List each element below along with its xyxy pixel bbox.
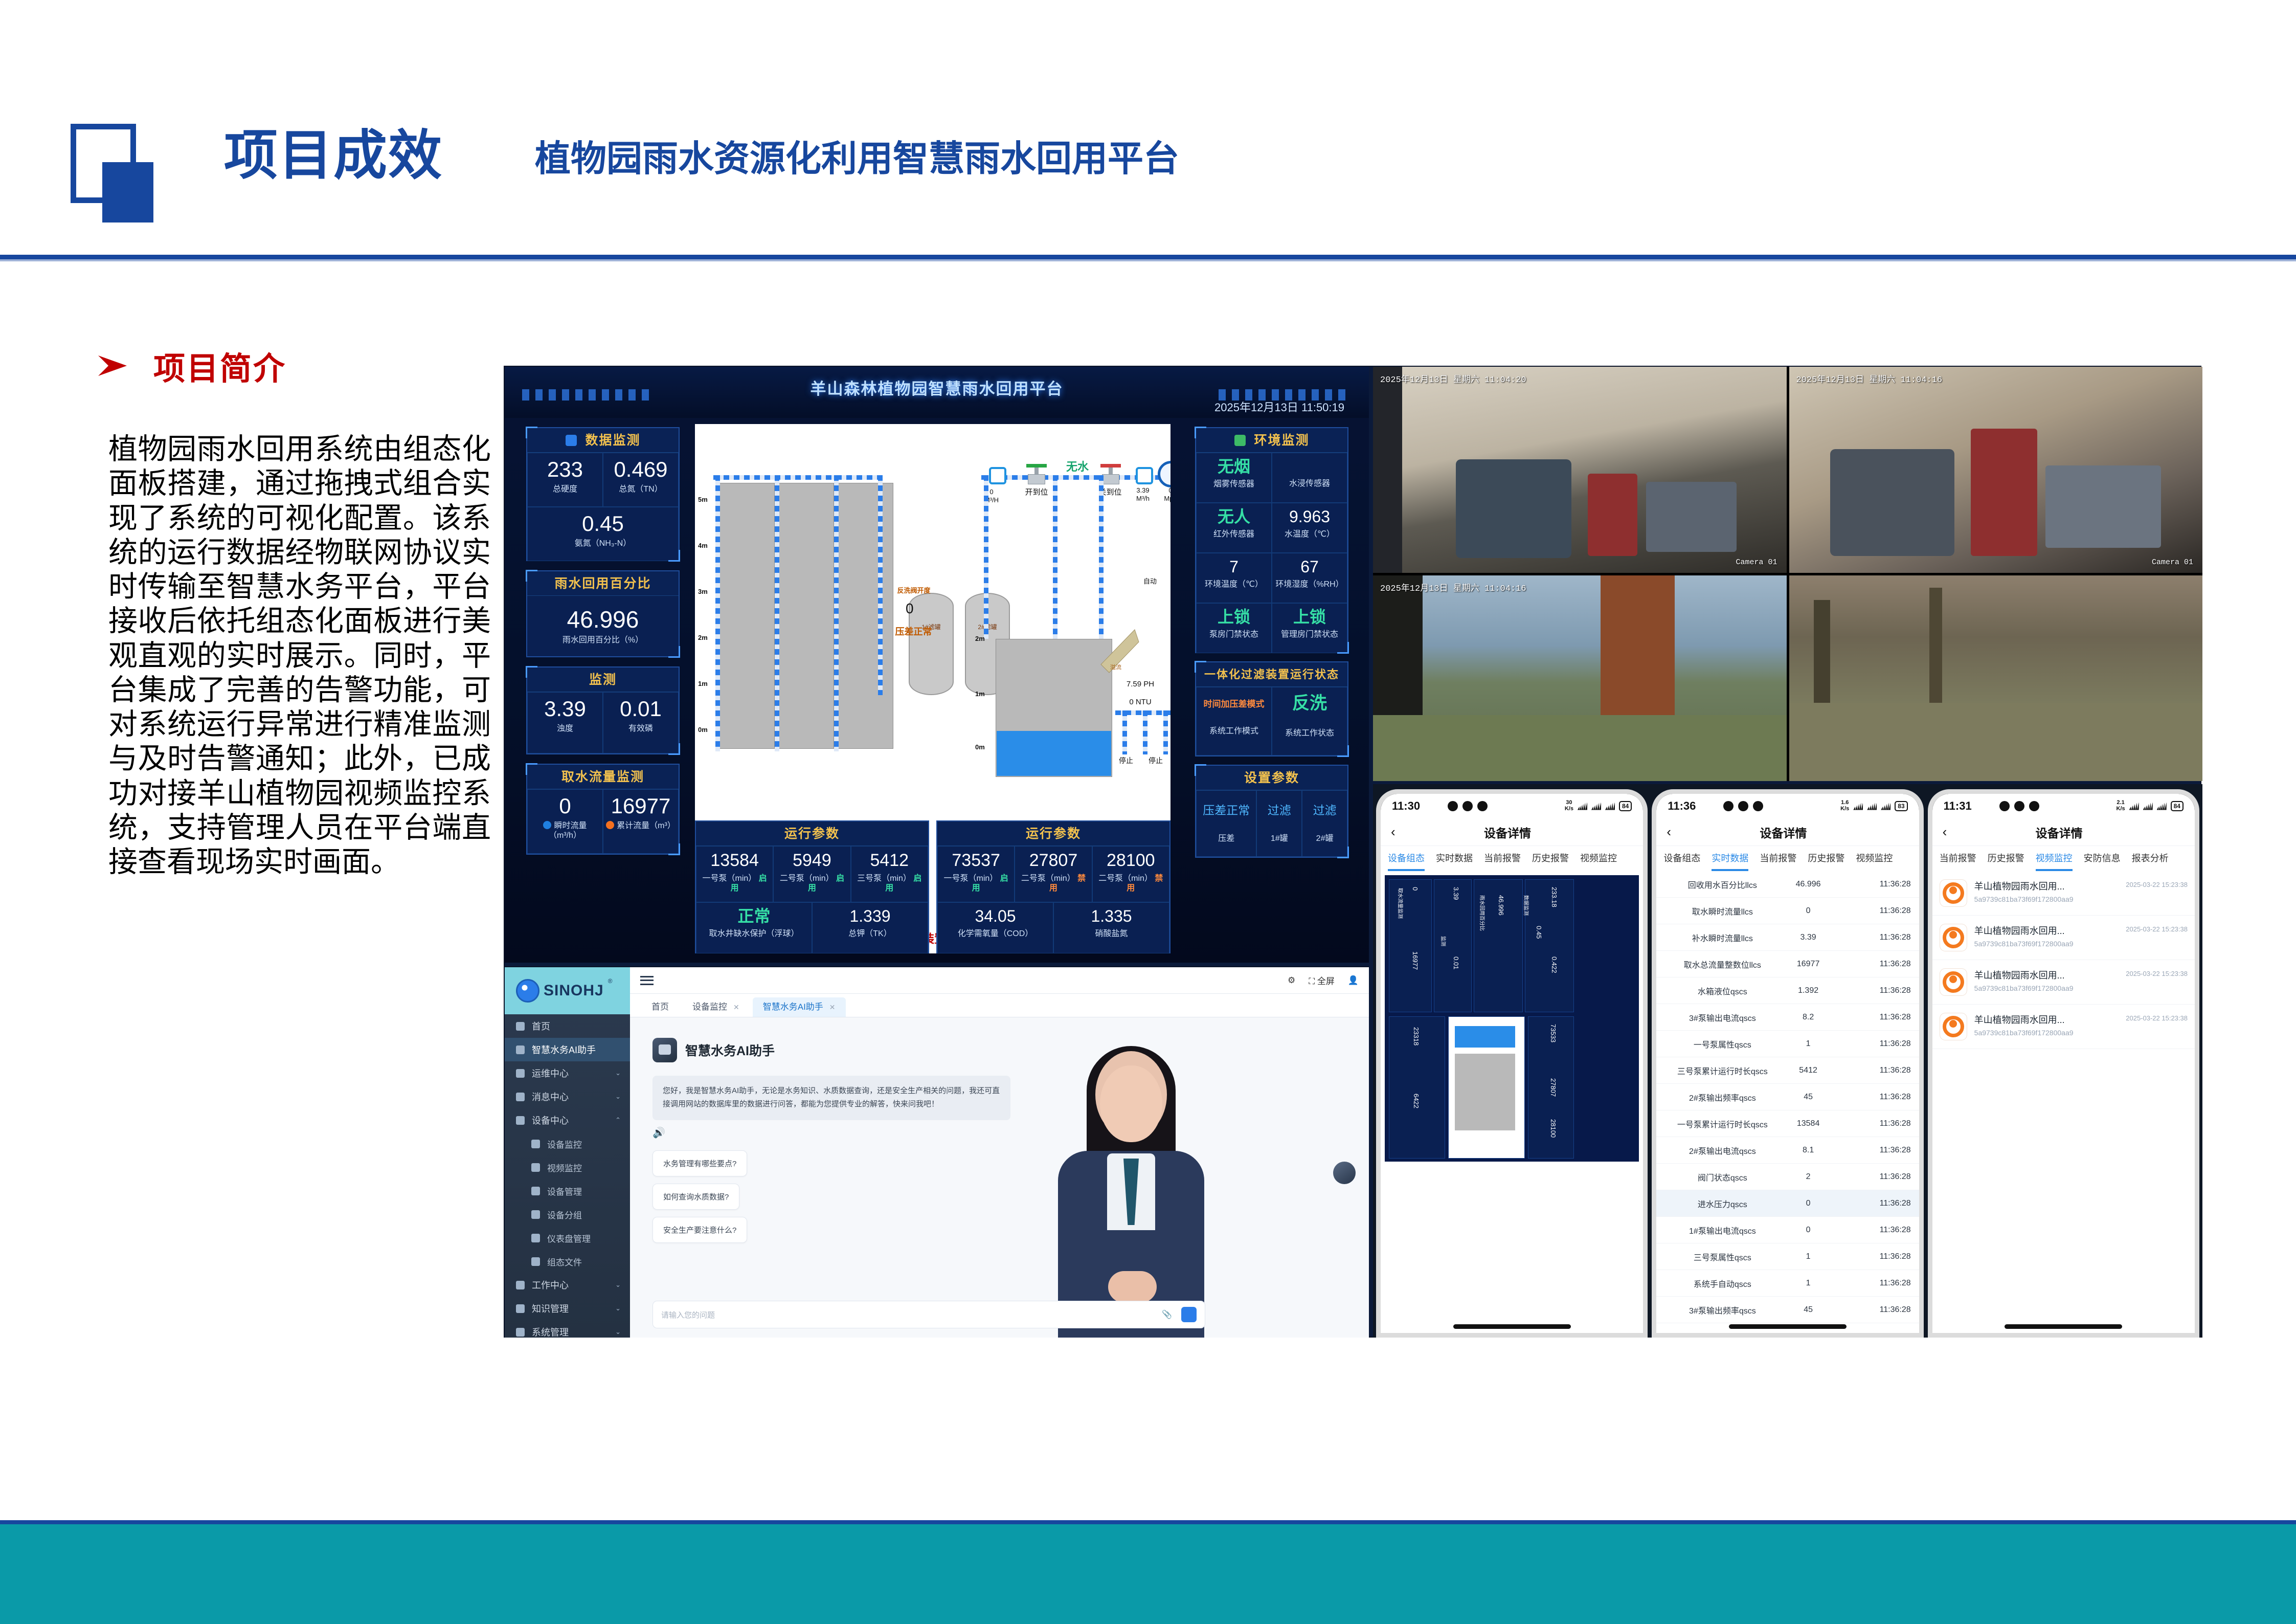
metric-cell: 上锁 泵房门禁状态	[1196, 603, 1272, 653]
overflow-icon	[1099, 629, 1140, 685]
topbar-actions: ⚙ ⛶ 全屏 👤	[1288, 974, 1359, 987]
sidebar-item-device-monitor[interactable]: 设备监控	[505, 1132, 630, 1155]
pipe-down-a	[984, 475, 988, 639]
list-item[interactable]: 进水压力qscs011:36:28	[1656, 1190, 1919, 1217]
panel-title: 运行参数	[696, 821, 928, 846]
tab-history-alarm[interactable]: 历史报警	[1808, 851, 1844, 871]
status-time: 11:31	[1944, 799, 1972, 813]
signal-icon	[2143, 803, 2153, 810]
tank-scale-1m: 1m	[975, 690, 985, 698]
filter-tank-1	[909, 593, 954, 695]
scale-label: 5m	[698, 496, 708, 503]
phone-page-title: 设备详情	[1947, 824, 2171, 841]
alarm-body: 羊山植物园雨水回用... 5a9739c81ba73f69f172800aa9	[1974, 924, 2119, 948]
suggestion-chip[interactable]: 如何查询水质数据?	[652, 1184, 739, 1210]
pulse-icon	[606, 821, 614, 829]
scale-label: 3m	[698, 588, 708, 595]
mini-panel: 0 取水流量监测 16977	[1389, 879, 1432, 1012]
panel-monitor: 监测 3.39 浊度 0.01 有效磷	[526, 666, 680, 754]
phone-device-2: 11:36 1.6 K/s 83	[1652, 789, 1923, 1338]
pump-well-2	[778, 483, 834, 749]
intro-paragraph: 植物园雨水回用系统由组态化面板搭建，通过拖拽式组合实现了系统的可视化配置。该系统…	[97, 432, 491, 879]
network-speed: 2.1 K/s	[2117, 800, 2125, 812]
flow-left-value: 0 M³/H	[977, 488, 1006, 505]
metric-cell: 46.996 雨水回用百分比（%）	[527, 596, 679, 656]
mini-process-preview	[1448, 1016, 1525, 1159]
sidebar-item-dashboard-manage[interactable]: 仪表盘管理	[505, 1226, 630, 1250]
footer-bar	[0, 1524, 2296, 1624]
header-rule-light	[0, 259, 2296, 261]
scale-label: 2m	[698, 634, 708, 641]
flow-total-label: 累计流量（m³）	[605, 821, 676, 831]
cell-grid: 0 瞬时流量（m³/h） 16977 累计流量（m³）	[527, 789, 679, 854]
suggestion-chip[interactable]: 安全生产要注意什么?	[652, 1217, 747, 1243]
alarm-title: 羊山植物园雨水回用...	[1974, 968, 2119, 982]
tab-realtime-data[interactable]: 实时数据	[1712, 851, 1748, 871]
list-item[interactable]: 水箱液位qscs1.39211:36:28	[1656, 977, 1919, 1004]
chevron-down-icon: ⌄	[615, 1328, 621, 1336]
signal-icon-2	[2157, 803, 2167, 810]
bot-header: 智慧水务AI助手	[652, 1038, 1369, 1062]
tab-history-alarm[interactable]: 历史报警	[1988, 851, 2024, 871]
floating-bot-button[interactable]	[1333, 1162, 1356, 1184]
alarm-id: 5a9739c81ba73f69f172800aa9	[1974, 940, 2119, 948]
panel-title: 环境监测	[1196, 428, 1347, 453]
metric-cell: 1.339 总钾（TK）	[812, 902, 928, 953]
cell-grid: 无烟 烟雾传感器 水浸传感器 无人 红外传感器 9.963	[1196, 453, 1347, 653]
sidebar-item-label: 设备监控	[547, 1138, 582, 1150]
battery-indicator: 83	[1895, 801, 1907, 811]
registered-mark: ®	[608, 977, 613, 985]
cell-grid: 233 总硬度 0.469 总氮（TN） 0.45 氨氮（NH₃-N）	[527, 453, 679, 561]
list-item[interactable]: 三号泵属性qscs111:36:28	[1656, 1243, 1919, 1270]
phone-row: 11:30 30 K/s 84	[1373, 784, 2202, 1338]
auto-label: 自动	[1135, 577, 1165, 586]
sidebar-item-config-files[interactable]: 组态文件	[505, 1250, 630, 1273]
arrow-right-icon	[97, 352, 129, 379]
pump-well-3	[837, 483, 893, 749]
tab-current-alarm[interactable]: 当前报警	[1484, 851, 1521, 871]
signal-icon	[1591, 803, 1601, 810]
camera-timestamp: 2025年12月13日 星期六 11:04:16	[1796, 372, 1943, 385]
list-item[interactable]: 回收用水百分比llcs46.99611:36:28	[1656, 871, 1919, 898]
phone-page-title: 设备详情	[1671, 824, 1896, 841]
ai-assistant-window: SINOHJ ® 首页 智慧水务AI助手 运维中心 ⌄	[505, 966, 1369, 1338]
phone-tabs: 当前报警 历史报警 视频监控 安防信息 报表分析	[1932, 846, 2195, 871]
panel-title: 运行参数	[937, 821, 1169, 846]
list-item[interactable]: 羊山植物园雨水回用... 5a9739c81ba73f69f172800aa9 …	[1932, 1005, 2195, 1049]
metric-cell: 压差正常 压差	[1196, 790, 1256, 857]
battery-indicator: 84	[1619, 801, 1632, 811]
speaker-icon[interactable]: 🔊	[652, 1126, 1369, 1139]
gear-icon	[516, 1328, 525, 1337]
panel-title: 设置参数	[1196, 766, 1347, 790]
camera-grid: 2025年12月13日 星期六 11:04:20 Camera 01 2025年…	[1373, 367, 2202, 781]
list-item[interactable]: 阀门状态qscs211:36:28	[1656, 1164, 1919, 1190]
tab-ai-assistant[interactable]: 智慧水务AI助手✕	[753, 997, 846, 1017]
file-icon	[531, 1257, 540, 1266]
metric-cell: 无人 红外传感器	[1196, 503, 1272, 553]
panel-data-monitor: 数据监测 233 总硬度 0.469 总氮（TN） 0.45	[526, 427, 680, 561]
sidebar-item-video-monitor[interactable]: 视频监控	[505, 1155, 630, 1179]
scada-right-stack: 环境监测 无烟 烟雾传感器 水浸传感器 无人 红外传感器	[1195, 427, 1348, 858]
tab-realtime-data[interactable]: 实时数据	[1436, 851, 1473, 871]
tab-video-monitor[interactable]: 视频监控	[1580, 851, 1617, 871]
back-icon[interactable]: ‹	[1943, 824, 1947, 840]
dashboard-icon	[531, 1234, 540, 1242]
camera-brand-icon	[1940, 924, 1967, 951]
sidebar-item-label: 设备中心	[532, 1114, 569, 1127]
sidebar-item-device-group[interactable]: 设备分组	[505, 1203, 630, 1226]
wifi-icon	[1578, 803, 1587, 810]
status-time: 11:30	[1392, 799, 1420, 813]
alarm-id: 5a9739c81ba73f69f172800aa9	[1974, 895, 2119, 903]
camera-cutout-icon	[1723, 801, 1763, 811]
message-icon	[516, 1093, 525, 1101]
tab-video-monitor[interactable]: 视频监控	[1856, 851, 1893, 871]
realtime-data-list: 回收用水百分比llcs46.99611:36:28 取水瞬时流量llcs011:…	[1656, 871, 1919, 1333]
panel-set-params: 设置参数 压差正常 压差 过滤 1#罐 过滤 2#罐	[1195, 765, 1348, 858]
send-button[interactable]	[1181, 1307, 1197, 1322]
alarm-list: 羊山植物园雨水回用... 5a9739c81ba73f69f172800aa9 …	[1932, 871, 2195, 1049]
robot-avatar-icon	[652, 1038, 677, 1062]
signal-icon	[1867, 803, 1877, 810]
no-water-status: 无水	[1059, 460, 1096, 474]
phone-tabs: 设备组态 实时数据 当前报警 历史报警 视频监控	[1656, 846, 1919, 871]
network-speed: 1.6 K/s	[1840, 800, 1849, 812]
phone-nav-bar: ‹ 设备详情	[1381, 818, 1643, 846]
ph-value: 7.59 PH	[1117, 680, 1163, 689]
gauge-icon	[543, 821, 551, 829]
app-main: ⚙ ⛶ 全屏 👤 首页 设备监控✕ 智慧水务AI助手✕ 智慧水务AI助手 您好，	[630, 967, 1369, 1338]
sidebar-item-ops-center[interactable]: 运维中心 ⌄	[505, 1061, 630, 1085]
sidebar-item-system[interactable]: 系统管理 ⌄	[505, 1320, 630, 1344]
metric-cell: 34.05 化学需氧量（COD）	[937, 902, 1053, 953]
close-icon[interactable]: ✕	[733, 1003, 739, 1011]
list-item[interactable]: 一号泵属性qscs111:36:28	[1656, 1031, 1919, 1057]
ntu-value: 0 NTU	[1117, 698, 1163, 707]
scale-label: 0m	[698, 726, 708, 733]
cell-grid: 时间加压差模式 系统工作模式 反洗 系统工作状态	[1196, 687, 1347, 755]
environment-icon	[1234, 435, 1246, 446]
tab-security-info[interactable]: 安防信息	[2084, 851, 2121, 871]
digital-human-avatar	[1047, 1051, 1215, 1338]
footer-rule	[0, 1520, 2296, 1524]
phone-tabs: 设备组态 实时数据 当前报警 历史报警 视频监控	[1381, 846, 1643, 871]
metric-cell: 73537 一号泵（min） 启用	[937, 846, 1015, 902]
camera-brand-icon	[1940, 1013, 1967, 1040]
list-item[interactable]: 3#泵输出频率qscs4511:36:28	[1656, 1297, 1919, 1323]
valve-closed-label: 关到位	[1092, 488, 1129, 498]
metric-cell: 时间加压差模式 系统工作模式	[1196, 687, 1272, 755]
tab-video-monitor[interactable]: 视频监控	[2036, 851, 2073, 871]
logo-mark	[71, 124, 188, 216]
metric-cell: 反洗 系统工作状态	[1272, 687, 1347, 755]
close-icon[interactable]: ✕	[829, 1003, 836, 1011]
list-item[interactable]: 取水瞬时流量llcs011:36:28	[1656, 898, 1919, 924]
sidebar-item-label: 知识管理	[532, 1302, 569, 1315]
alarm-title: 羊山植物园雨水回用...	[1974, 924, 2119, 937]
metric-cell: 13584 一号泵（min） 启用	[696, 846, 773, 902]
metric-cell: 0.45 氨氮（NH₃-N）	[527, 507, 679, 561]
metric-cell: 27807 二号泵（min） 禁用	[1015, 846, 1092, 902]
mini-panel: 46.996 雨水回用百分比	[1474, 879, 1523, 1012]
chat-input[interactable]: 请输入您的问题	[661, 1309, 715, 1320]
panel-title: 数据监测	[527, 428, 679, 453]
metric-cell: 过滤 2#罐	[1302, 790, 1347, 857]
panel-reuse-percentage: 雨水回用百分比 46.996 雨水回用百分比（%）	[526, 570, 680, 657]
metric-cell: 5949 二号泵（min） 启用	[773, 846, 850, 902]
status-indicators: 1.6 K/s 83	[1840, 800, 1907, 812]
pump-state-1: 停止	[1113, 757, 1139, 766]
scale-label: 4m	[698, 542, 708, 549]
sidebar-item-label: 运维中心	[532, 1066, 569, 1080]
scada-clock: 2025年12月13日 11:50:19	[1214, 398, 1344, 415]
tab-history-alarm[interactable]: 历史报警	[1532, 851, 1569, 871]
tank-water-level	[997, 731, 1111, 776]
sidebar-item-label: 仪表盘管理	[547, 1232, 591, 1244]
panel-runtime-right: 运行参数 73537 一号泵（min） 启用 27807 二号泵（min） 禁用	[936, 820, 1170, 953]
slide-root: 项目成效 植物园雨水资源化利用智慧雨水回用平台 项目简介 植物园雨水回用系统由组…	[0, 0, 2296, 1624]
page-subtitle: 植物园雨水资源化利用智慧雨水回用平台	[535, 141, 1179, 176]
phone-status-bar: 11:31 2.1 K/s 84	[1932, 794, 2195, 818]
phone-screen: 11:31 2.1 K/s 84	[1932, 794, 2195, 1333]
book-icon	[516, 1304, 525, 1313]
chat-input-bar[interactable]: 请输入您的问题 📎	[652, 1301, 1205, 1328]
sidebar-item-label: 组态文件	[547, 1255, 582, 1268]
metric-cell: 5412 三号泵（min） 启用	[851, 846, 928, 902]
signal-icon-2	[1881, 803, 1890, 810]
list-item[interactable]: 取水总流量整数位llcs1697711:36:28	[1656, 951, 1919, 977]
cell-grid: 73537 一号泵（min） 启用 27807 二号泵（min） 禁用 2810…	[937, 846, 1169, 953]
camera-feed-3[interactable]: 2025年12月13日 星期六 11:04:16	[1373, 575, 1787, 782]
sidebar-item-label: 设备分组	[547, 1208, 582, 1221]
work-icon	[516, 1281, 525, 1289]
monitor-icon	[531, 1140, 540, 1148]
sidebar-item-label: 系统管理	[532, 1325, 569, 1339]
chevron-down-icon: ⌄	[615, 1069, 621, 1077]
pump-riser-1	[1122, 710, 1127, 754]
pressure-gauge-icon	[1158, 461, 1170, 487]
camera-name: Camera 01	[1736, 558, 1777, 567]
section-heading-label: 项目简介	[153, 343, 286, 389]
list-item[interactable]: 2#泵输出电流qscs8.111:36:28	[1656, 1137, 1919, 1164]
pipe-down-b	[1053, 475, 1057, 639]
list-item[interactable]: 羊山植物园雨水回用... 5a9739c81ba73f69f172800aa9 …	[1932, 916, 2195, 960]
list-item[interactable]: 羊山植物园雨水回用... 5a9739c81ba73f69f172800aa9 …	[1932, 960, 2195, 1005]
list-item[interactable]: 补水瞬时流量llcs3.3911:36:28	[1656, 924, 1919, 951]
metric-cell: 水浸传感器	[1272, 453, 1347, 503]
pipe-v-1	[715, 475, 720, 751]
tank-scale-0m: 0m	[975, 743, 985, 751]
alarm-time: 2025-03-22 15:23:38	[2126, 924, 2188, 933]
panel-env-monitor: 环境监测 无烟 烟雾传感器 水浸传感器 无人 红外传感器	[1195, 427, 1348, 653]
input-actions: 📎	[1162, 1307, 1197, 1322]
device-icon	[516, 1116, 525, 1125]
screenshot-composite: 羊山森林植物园智慧雨水回用平台 2025年12月13日 11:50:19 数据监…	[504, 366, 2201, 1338]
tab-device-config[interactable]: 设备组态	[1388, 851, 1425, 871]
attach-icon[interactable]: 📎	[1162, 1309, 1172, 1320]
pipe-down-c	[1099, 475, 1104, 639]
flow-meter-right-icon	[1136, 467, 1153, 484]
panel-intake-flow: 取水流量监测 0 瞬时流量（m³/h） 16977 累计流量（m³）	[526, 764, 680, 855]
video-icon	[531, 1163, 540, 1172]
list-item[interactable]: 3#泵输出电流qscs8.211:36:28	[1656, 1004, 1919, 1031]
list-item[interactable]: 羊山植物园雨水回用... 5a9739c81ba73f69f172800aa9 …	[1932, 871, 2195, 916]
pipe-top-left	[713, 475, 882, 480]
sidebar-item-device-manage[interactable]: 设备管理	[505, 1179, 630, 1203]
sidebar-item-home[interactable]: 首页	[505, 1014, 630, 1038]
monitor-icon	[566, 435, 577, 446]
list-item[interactable]: 三号泵累计运行时长qscs541211:36:28	[1656, 1057, 1919, 1084]
alarm-id: 5a9739c81ba73f69f172800aa9	[1974, 1029, 2119, 1037]
left-column: 项目简介 植物园雨水回用系统由组态化面板搭建，通过拖拽式组合实现了系统的可视化配…	[97, 343, 491, 879]
backwash-valve-label: 反洗阀开度	[883, 587, 944, 595]
back-icon[interactable]: ‹	[1391, 824, 1395, 840]
battery-indicator: 84	[2171, 801, 2184, 811]
tab-current-alarm[interactable]: 当前报警	[1940, 851, 1976, 871]
phone-nav-bar: ‹ 设备详情	[1656, 818, 1919, 846]
sidebar-item-message-center[interactable]: 消息中心 ⌄	[505, 1085, 630, 1108]
list-item[interactable]: 2#泵输出频率qscs4511:36:28	[1656, 1084, 1919, 1110]
camera-feed-4[interactable]	[1789, 575, 2203, 782]
ops-icon	[516, 1069, 525, 1078]
sidebar-item-knowledge[interactable]: 知识管理 ⌄	[505, 1297, 630, 1320]
scada-left-stack: 数据监测 233 总硬度 0.469 总氮（TN） 0.45	[526, 427, 680, 855]
gear-icon[interactable]: ⚙	[1288, 975, 1295, 986]
pump-state-2: 停止	[1143, 757, 1168, 766]
logo-icon	[516, 979, 539, 1003]
page-title: 项目成效	[224, 129, 443, 183]
alarm-title: 羊山植物园雨水回用...	[1974, 879, 2119, 893]
chat-area: 智慧水务AI助手 您好，我是智慧水务AI助手，无论是水务知识、水质数据查询，还是…	[630, 1017, 1369, 1338]
phone-screen: 11:36 1.6 K/s 83	[1656, 794, 1919, 1333]
sidebar-item-label: 智慧水务AI助手	[532, 1043, 596, 1056]
overflow-label: 溢流	[1110, 664, 1121, 672]
status-indicators: 2.1 K/s 84	[2117, 800, 2184, 812]
pipe-v-2	[775, 475, 779, 751]
valve-open-icon	[1025, 464, 1048, 484]
alarm-time: 2025-03-22 15:23:38	[2126, 1013, 2188, 1022]
pipe-v-3	[834, 475, 839, 751]
fullscreen-button[interactable]: ⛶ 全屏	[1309, 974, 1335, 987]
camera-feed-1[interactable]: 2025年12月13日 星期六 11:04:20 Camera 01	[1373, 367, 1787, 573]
panel-title: 监测	[527, 668, 679, 692]
tab-device-config[interactable]: 设备组态	[1663, 851, 1700, 871]
tab-report-analysis[interactable]: 报表分析	[2132, 851, 2169, 871]
signal-icon-2	[1605, 803, 1615, 810]
panel-title: 一体化过滤装置运行状态	[1196, 662, 1347, 687]
back-icon[interactable]: ‹	[1667, 824, 1671, 840]
pump-well-1	[718, 483, 775, 749]
sidebar-item-label: 消息中心	[532, 1090, 569, 1103]
metric-cell: 28100 二号泵（min） 禁用	[1092, 846, 1169, 902]
pipe-v-out	[878, 475, 883, 695]
metric-cell: 233 总硬度	[527, 453, 603, 507]
network-speed: 30 K/s	[1565, 800, 1573, 812]
pressure-value: 0 Mpa	[1155, 486, 1170, 503]
status-time: 11:36	[1668, 799, 1696, 813]
metric-cell: 3.39 浊度	[527, 692, 603, 753]
sidebar-item-ai-assistant[interactable]: 智慧水务AI助手	[505, 1038, 630, 1061]
phone-nav-bar: ‹ 设备详情	[1932, 818, 2195, 846]
camera-feed-2[interactable]: 2025年12月13日 星期六 11:04:16 Camera 01	[1789, 367, 2203, 573]
scale-label: 1m	[698, 680, 708, 687]
greeting-message: 您好，我是智慧水务AI助手，无论是水务知识、水质数据查询，还是安全生产相关的问题…	[652, 1076, 1010, 1120]
sidebar-item-device-center[interactable]: 设备中心 ⌃	[505, 1108, 630, 1132]
camera-cutout-icon	[1999, 801, 2039, 811]
camera-brand-icon	[1940, 879, 1967, 907]
cell-grid: 压差正常 压差 过滤 1#罐 过滤 2#罐	[1196, 790, 1347, 857]
brand-logo: SINOHJ ®	[505, 967, 630, 1014]
section-heading: 项目简介	[97, 343, 491, 389]
runtime-params-row: 运行参数 13584 一号泵（min） 启用 5949 二号泵（min） 启用	[695, 820, 1170, 953]
flow-right-value: 3.39 M³/h	[1129, 486, 1157, 503]
metric-cell: 0.469 总氮（TN）	[603, 453, 679, 507]
metric-cell: 无烟 烟雾传感器	[1196, 453, 1272, 503]
avatar-face	[1100, 1065, 1162, 1142]
group-icon	[531, 1210, 540, 1219]
phone-device-1: 11:30 30 K/s 84	[1376, 789, 1648, 1338]
list-item[interactable]: 系统手自动qscs111:36:28	[1656, 1270, 1919, 1297]
menu-toggle-icon[interactable]	[640, 976, 654, 985]
metric-cell: 上锁 管理房门禁状态	[1272, 603, 1347, 653]
metric-cell: 7 环境温度（℃）	[1196, 553, 1272, 603]
phone-status-bar: 11:30 30 K/s 84	[1381, 794, 1643, 818]
metric-cell: 过滤 1#罐	[1256, 790, 1302, 857]
cell-grid: 3.39 浊度 0.01 有效磷	[527, 692, 679, 753]
wifi-icon	[1853, 803, 1863, 810]
sidebar-item-label: 首页	[532, 1019, 550, 1033]
wifi-icon	[2129, 803, 2139, 810]
sidebar-item-label: 设备管理	[547, 1185, 582, 1197]
alarm-time: 2025-03-22 15:23:38	[2126, 968, 2188, 977]
mini-panel: 23318 6422	[1389, 1016, 1445, 1159]
camera-cutout-icon	[1448, 801, 1488, 811]
tab-current-alarm[interactable]: 当前报警	[1760, 851, 1796, 871]
sidebar-item-label: 视频监控	[547, 1161, 582, 1174]
chevron-up-icon: ⌃	[615, 1116, 621, 1124]
valve-open-label: 开到位	[1018, 488, 1055, 498]
alarm-title: 羊山植物园雨水回用...	[1974, 1013, 2119, 1026]
metric-cell: 67 环境湿度（%RH）	[1272, 553, 1347, 603]
alarm-body: 羊山植物园雨水回用... 5a9739c81ba73f69f172800aa9	[1974, 968, 2119, 992]
list-item[interactable]: 1#泵输出电流qscs011:36:28	[1656, 1217, 1919, 1243]
list-item[interactable]: 一号泵累计运行时长qscs1358411:36:28	[1656, 1110, 1919, 1137]
tank-scale-2m: 2m	[975, 635, 985, 642]
sidebar-item-work-center[interactable]: 工作中心 ⌄	[505, 1273, 630, 1297]
avatar[interactable]: 👤	[1348, 975, 1359, 986]
camera-name: Camera 01	[2152, 558, 2193, 567]
rotated-scada-preview[interactable]: 0 取水流量监测 16977 3.39 监测 0.01 46.996 雨水回用百…	[1385, 875, 1639, 1162]
chevron-down-icon: ⌄	[615, 1304, 621, 1312]
suggestion-chip[interactable]: 水务管理有哪些要点?	[652, 1150, 747, 1176]
brand-name: SINOHJ	[544, 982, 604, 999]
avatar-hands	[1108, 1271, 1157, 1303]
alarm-time: 2025-03-22 15:23:38	[2126, 879, 2188, 888]
camera-timestamp: 2025年12月13日 星期六 11:04:20	[1380, 372, 1526, 385]
tab-home[interactable]: 首页	[641, 997, 679, 1017]
scada-dashboard: 羊山森林植物园智慧雨水回用平台 2025年12月13日 11:50:19 数据监…	[505, 367, 1369, 963]
tab-device-monitor[interactable]: 设备监控✕	[682, 997, 750, 1017]
sidebar-item-label: 工作中心	[532, 1278, 569, 1292]
diff-pressure-status: 压差正常	[879, 626, 948, 638]
chevron-down-icon: ⌄	[615, 1281, 621, 1289]
phone-device-3: 11:31 2.1 K/s 84	[1928, 789, 2199, 1338]
mini-panel: 3.39 监测 0.01	[1434, 879, 1472, 1012]
home-indicator	[1453, 1324, 1571, 1329]
panel-title: 雨水回用百分比	[527, 571, 679, 596]
